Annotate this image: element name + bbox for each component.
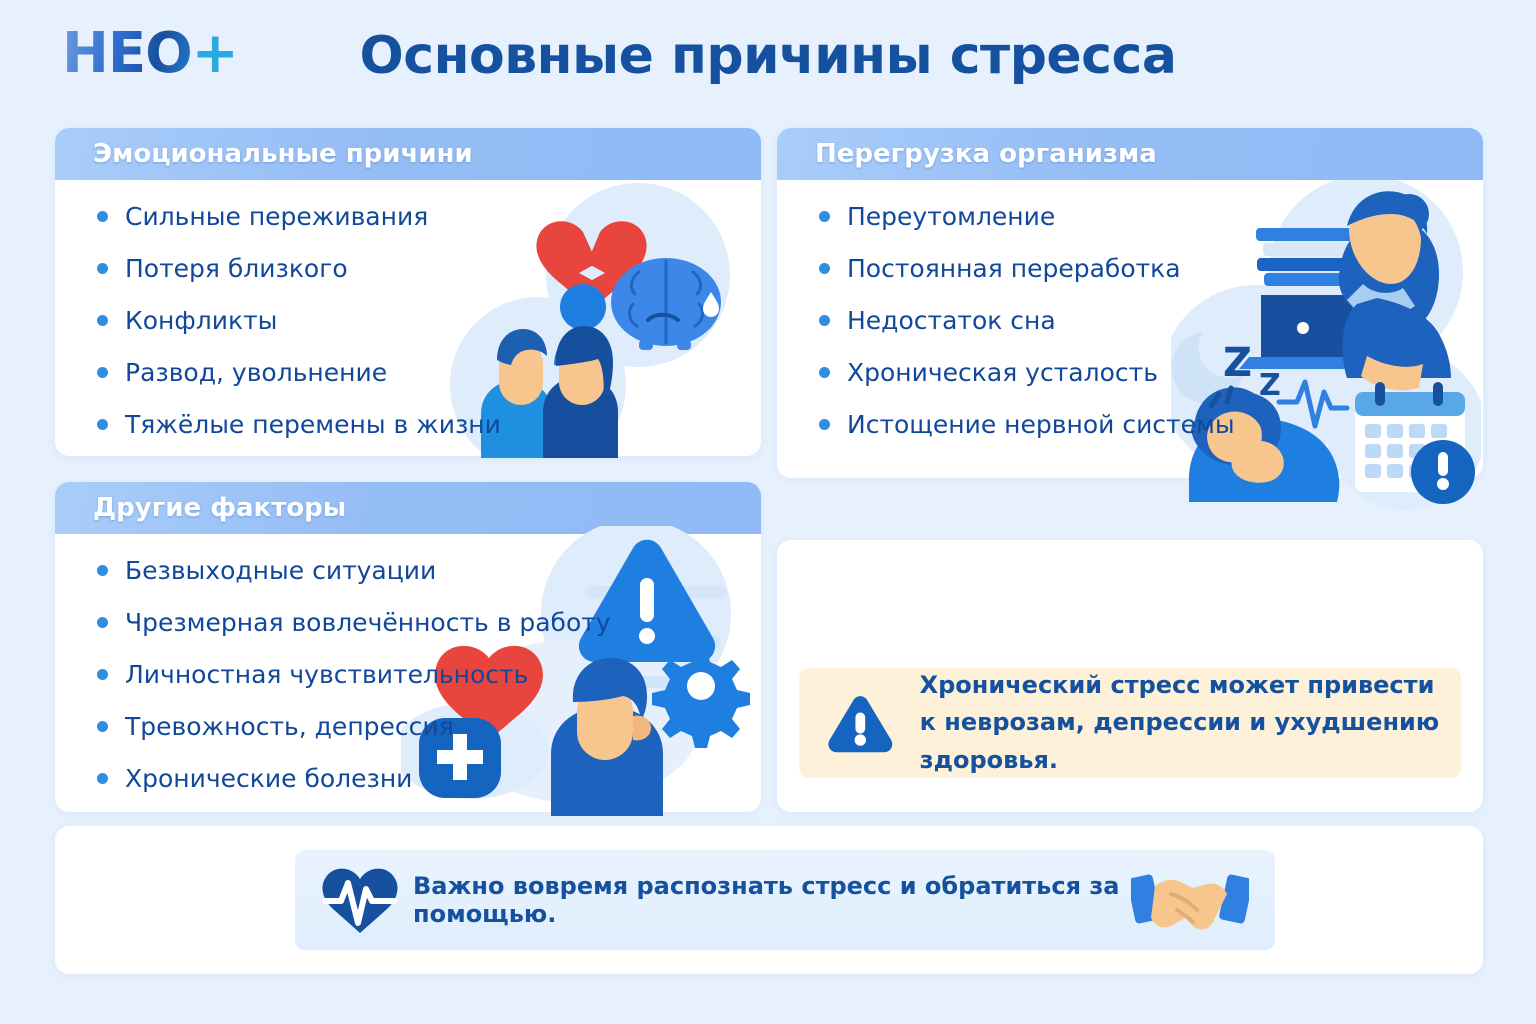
bullet-list-other: Безвыходные ситуации Чрезмерная вовлечён… bbox=[55, 556, 761, 793]
list-item: Потеря близкого bbox=[97, 254, 761, 283]
card-header-other: Другие факторы bbox=[55, 482, 761, 534]
bullet-dot-icon bbox=[819, 419, 830, 430]
bullet-dot-icon bbox=[97, 721, 108, 732]
list-item: Недостаток сна bbox=[819, 306, 1483, 335]
card-body-other: Безвыходные ситуации Чрезмерная вовлечён… bbox=[55, 534, 761, 812]
list-item-label: Истощение нервной системы bbox=[847, 410, 1235, 439]
list-item: Переутомление bbox=[819, 202, 1483, 231]
list-item-label: Развод, увольнение bbox=[125, 358, 387, 387]
list-item-label: Тяжёлые перемены в жизни bbox=[125, 410, 501, 439]
bullet-dot-icon bbox=[97, 315, 108, 326]
bullet-dot-icon bbox=[97, 367, 108, 378]
bullet-dot-icon bbox=[819, 315, 830, 326]
list-item: Чрезмерная вовлечённость в работу bbox=[97, 608, 761, 637]
card-title-emotional: Эмоциональные причини bbox=[93, 139, 473, 169]
handshake-icon bbox=[1131, 860, 1249, 940]
bullet-dot-icon bbox=[97, 211, 108, 222]
list-item-label: Безвыходные ситуации bbox=[125, 556, 436, 585]
page-title: Основные причины стресса bbox=[0, 26, 1536, 86]
bullet-list-emotional: Сильные переживания Потеря близкого Конф… bbox=[55, 202, 761, 439]
card-body-overload-content: Переутомление Постоянная переработка Нед… bbox=[777, 180, 1483, 478]
list-item: Хронические болезни bbox=[97, 764, 761, 793]
bullet-dot-icon bbox=[97, 419, 108, 430]
warning-text: Хронический стресс может привести к невр… bbox=[920, 667, 1461, 779]
footer-text: Важно вовремя распознать стресс и обрати… bbox=[413, 872, 1131, 928]
card-header-emotional: Эмоциональные причини bbox=[55, 128, 761, 180]
warning-line-2: к неврозам, депрессии и ухудшению здоров… bbox=[920, 704, 1461, 778]
card-other-factors: Другие факторы Безвыходные ситуации Чрез… bbox=[55, 482, 761, 812]
list-item-label: Недостаток сна bbox=[847, 306, 1056, 335]
warning-triangle-icon bbox=[827, 686, 894, 760]
bullet-dot-icon bbox=[97, 773, 108, 784]
card-header-overload: Перегрузка организма bbox=[777, 128, 1483, 180]
card-title-overload: Перегрузка организма bbox=[815, 139, 1157, 169]
list-item: Конфликты bbox=[97, 306, 761, 335]
list-item: Хроническая усталость bbox=[819, 358, 1483, 387]
list-item: Развод, увольнение bbox=[97, 358, 761, 387]
alert-badge-icon bbox=[1411, 440, 1475, 504]
card-footer: Важно вовремя распознать стресс и обрати… bbox=[55, 826, 1483, 974]
warning-line-1: Хронический стресс может привести bbox=[920, 667, 1461, 704]
bullet-dot-icon bbox=[97, 565, 108, 576]
list-item: Тяжёлые перемены в жизни bbox=[97, 410, 761, 439]
bullet-dot-icon bbox=[819, 367, 830, 378]
list-item: Постоянная переработка bbox=[819, 254, 1483, 283]
list-item: Безвыходные ситуации bbox=[97, 556, 761, 585]
list-item-label: Личностная чувствительность bbox=[125, 660, 528, 689]
list-item: Тревожность, депрессия bbox=[97, 712, 761, 741]
card-warning-note: Хронический стресс может привести к невр… bbox=[777, 540, 1483, 812]
bullet-dot-icon bbox=[97, 263, 108, 274]
bullet-dot-icon bbox=[97, 669, 108, 680]
page-header: НЕО+ Основные причины стресса bbox=[0, 0, 1536, 118]
list-item-label: Чрезмерная вовлечённость в работу bbox=[125, 608, 611, 637]
list-item: Истощение нервной системы bbox=[819, 410, 1483, 439]
list-item-label: Постоянная переработка bbox=[847, 254, 1181, 283]
card-body-overload: Перегрузка организма Переутомление Посто… bbox=[777, 128, 1483, 478]
list-item: Сильные переживания bbox=[97, 202, 761, 231]
list-item-label: Хронические болезни bbox=[125, 764, 412, 793]
bullet-dot-icon bbox=[819, 211, 830, 222]
list-item-label: Конфликты bbox=[125, 306, 277, 335]
card-body-emotional: Сильные переживания Потеря близкого Конф… bbox=[55, 180, 761, 456]
list-item-label: Хроническая усталость bbox=[847, 358, 1158, 387]
footer-banner: Важно вовремя распознать стресс и обрати… bbox=[295, 850, 1275, 950]
list-item-label: Потеря близкого bbox=[125, 254, 348, 283]
card-emotional-causes: Эмоциональные причини Сильные переживани… bbox=[55, 128, 761, 456]
list-item-label: Переутомление bbox=[847, 202, 1055, 231]
bullet-dot-icon bbox=[819, 263, 830, 274]
bullet-dot-icon bbox=[97, 617, 108, 628]
warning-callout: Хронический стресс может привести к невр… bbox=[799, 668, 1461, 778]
list-item: Личностная чувствительность bbox=[97, 660, 761, 689]
card-title-other: Другие факторы bbox=[93, 493, 346, 523]
heartbeat-heart-icon bbox=[321, 863, 399, 937]
list-item-label: Тревожность, депрессия bbox=[125, 712, 454, 741]
list-item-label: Сильные переживания bbox=[125, 202, 428, 231]
bullet-list-overload: Переутомление Постоянная переработка Нед… bbox=[777, 202, 1483, 439]
